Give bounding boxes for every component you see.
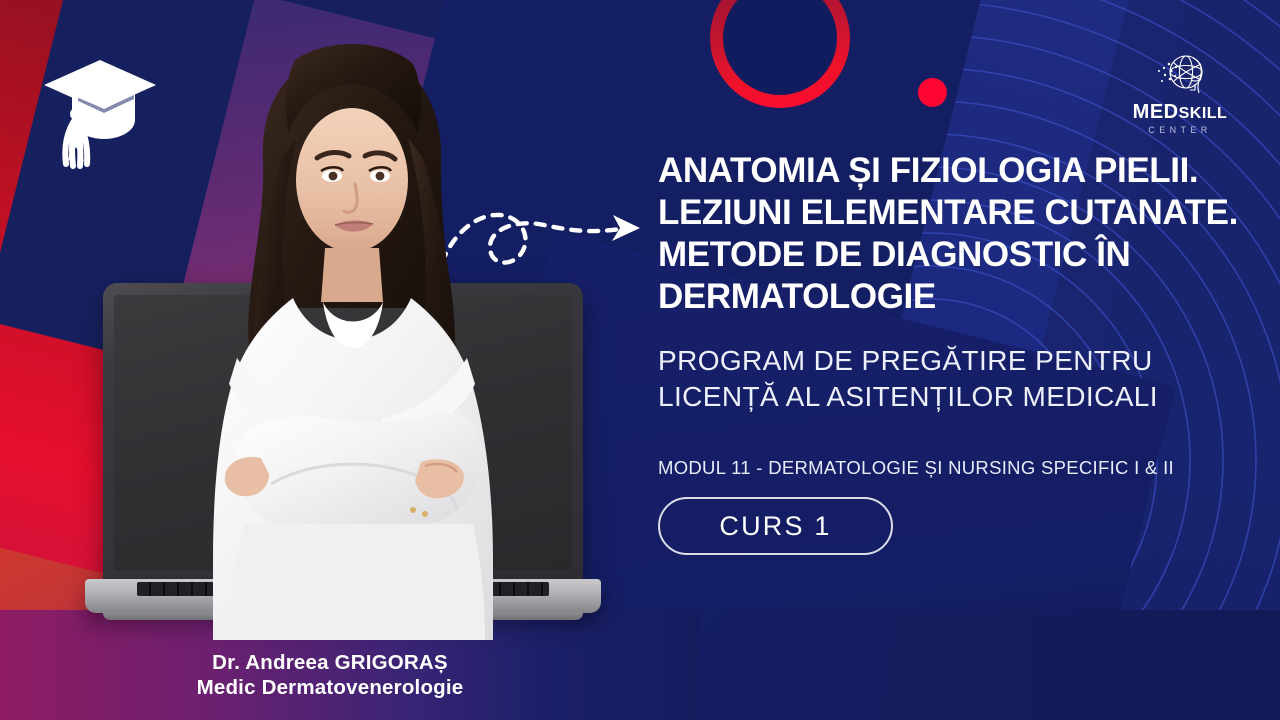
course-banner: MEDSKILL CENTER ANATOMIA ȘI FIZIOLOGIA P… [0,0,1280,720]
presenter-portrait [175,40,525,680]
presenter-name: Dr. Andreea GRIGORAȘ [0,650,660,675]
module-label: MODUL 11 - DERMATOLOGIE ȘI NURSING SPECI… [658,457,1258,479]
logo-wordmark: MEDSKILL [1105,102,1255,124]
program-subtitle: PROGRAM DE PREGĂTIRE PENTRU LICENȚĂ AL A… [658,343,1258,415]
presenter-info: Dr. Andreea GRIGORAȘ Medic Dermatovenero… [0,650,660,700]
red-dot-shape [918,78,947,107]
course-badge[interactable]: CURS 1 [658,497,893,555]
logo-word-secondary: SKILL [1179,105,1228,122]
page-title: ANATOMIA ȘI FIZIOLOGIA PIELII. LEZIUNI E… [658,150,1258,318]
brand-logo[interactable]: MEDSKILL CENTER [1105,48,1255,136]
presenter-role: Medic Dermatovenerologie [0,675,660,700]
logo-word-primary: MED [1133,101,1179,123]
logo-subtitle: CENTER [1105,125,1255,135]
course-text-block: ANATOMIA ȘI FIZIOLOGIA PIELII. LEZIUNI E… [658,150,1258,555]
graduation-cap-icon [34,52,164,177]
network-head-globe-icon [1145,48,1215,100]
